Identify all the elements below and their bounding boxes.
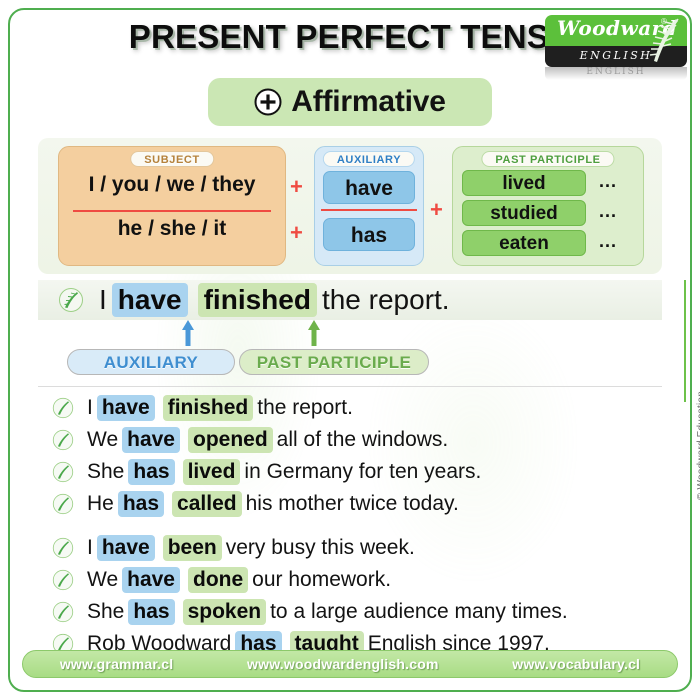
copyright-notice: © Woodward Education (696, 391, 700, 500)
woodward-english-logo[interactable]: Woodward ® ENGLISH ENGLISH (545, 15, 687, 67)
list-item: I have finished the report. (38, 392, 662, 424)
fern-check-icon (52, 429, 74, 451)
list-item: We have done our homework. (38, 564, 662, 596)
list-item: She has lived in Germany for ten years. (38, 456, 662, 488)
list-item: She has spoken to a large audience many … (38, 596, 662, 628)
list-item: We have opened all of the windows. (38, 424, 662, 456)
participle-example-lived: lived (462, 170, 586, 196)
arrow-up-participle-icon (307, 320, 321, 346)
featured-remainder: the report. (317, 284, 455, 316)
sentence-subject: I (83, 396, 97, 420)
legend-past-participle: PAST PARTICIPLE (239, 349, 429, 375)
sentence-subject: We (83, 428, 122, 452)
auxiliary-have: have (323, 171, 415, 204)
fern-check-icon (52, 569, 74, 591)
sentence-subject: We (83, 568, 122, 592)
sentence-auxiliary: have (97, 535, 155, 561)
featured-example-banner: I have finished the report. (38, 280, 662, 320)
legend-auxiliary: AUXILIARY (67, 349, 235, 375)
sentence-auxiliary: have (122, 567, 180, 593)
ellipsis-3: ... (599, 231, 635, 252)
sentence-remainder: in Germany for ten years. (240, 460, 485, 484)
copyright-rule (684, 280, 686, 402)
auxiliary-box: AUXILIARY have has (314, 146, 424, 266)
footer-link-woodwardenglish[interactable]: www.woodwardenglish.com (247, 656, 439, 672)
fern-check-icon (52, 493, 74, 515)
plus-circle-icon (254, 88, 282, 116)
plus-sign-aux-participle: + (430, 197, 443, 223)
footer-link-vocabulary[interactable]: www.vocabulary.cl (512, 656, 640, 672)
sentence-subject: She (83, 600, 128, 624)
header: PRESENT PERFECT TENSE Woodward ® ENGLISH (0, 18, 700, 70)
sentence-participle: been (163, 535, 222, 561)
sentence-remainder: all of the windows. (273, 428, 453, 452)
sentence-subject: She (83, 460, 128, 484)
subject-box: SUBJECT I / you / we / they he / she / i… (58, 146, 286, 266)
fern-check-icon (58, 287, 84, 313)
fern-check-icon (52, 601, 74, 623)
footer-link-grammar[interactable]: www.grammar.cl (60, 656, 174, 672)
plus-sign-subject-aux-1: + (290, 174, 303, 200)
auxiliary-has: has (323, 218, 415, 251)
sentence-remainder: very busy this week. (222, 536, 419, 560)
list-item: He has called his mother twice today. (38, 488, 662, 520)
section-divider (38, 386, 662, 387)
affirmative-badge: Affirmative (208, 78, 492, 126)
subject-divider (73, 210, 271, 212)
sentence-auxiliary: has (118, 491, 164, 517)
sentence-auxiliary: has (128, 459, 174, 485)
sentence-subject: He (83, 492, 118, 516)
sentence-participle: called (172, 491, 242, 517)
sentence-auxiliary: have (122, 427, 180, 453)
participle-example-studied: studied (462, 200, 586, 226)
participle-example-eaten: eaten (462, 230, 586, 256)
sentence-participle: done (188, 567, 248, 593)
infographic-poster: PRESENT PERFECT TENSE Woodward ® ENGLISH (0, 0, 700, 700)
fern-check-icon (52, 461, 74, 483)
past-participle-label: PAST PARTICIPLE (481, 151, 614, 167)
sentence-participle: opened (188, 427, 273, 453)
list-group-spacer (38, 520, 662, 532)
sentence-subject: I (83, 536, 97, 560)
sentence-auxiliary: have (97, 395, 155, 421)
sentence-participle: lived (183, 459, 241, 485)
subject-singular-pronouns: he / she / it (59, 217, 285, 241)
footer-bar: www.grammar.cl www.woodwardenglish.com w… (22, 650, 678, 678)
sentence-auxiliary: has (128, 599, 174, 625)
affirmative-label: Affirmative (291, 85, 446, 119)
sentence-participle: spoken (183, 599, 267, 625)
featured-participle: finished (198, 283, 317, 317)
sentence-remainder: our homework. (248, 568, 395, 592)
structure-panel: SUBJECT I / you / we / they he / she / i… (38, 138, 662, 274)
auxiliary-label: AUXILIARY (323, 151, 415, 167)
fern-leaf-icon (645, 17, 683, 65)
sentence-remainder: the report. (253, 396, 357, 420)
sentence-remainder: to a large audience many times. (266, 600, 572, 624)
fern-check-icon (52, 397, 74, 419)
arrow-up-auxiliary-icon (181, 320, 195, 346)
fern-check-icon (52, 537, 74, 559)
featured-auxiliary: have (112, 283, 188, 317)
subject-plural-pronouns: I / you / we / they (59, 173, 285, 197)
sentence-remainder: his mother twice today. (242, 492, 463, 516)
ellipsis-2: ... (599, 201, 635, 222)
past-participle-box: PAST PARTICIPLE lived studied eaten ... … (452, 146, 644, 266)
plus-sign-subject-aux-2: + (290, 220, 303, 246)
logo-reflection: ENGLISH (545, 67, 687, 80)
auxiliary-divider (321, 209, 417, 211)
subject-label: SUBJECT (130, 151, 214, 167)
featured-example-text: I have finished the report. (94, 283, 455, 317)
list-item: I have been very busy this week. (38, 532, 662, 564)
featured-subject: I (94, 284, 112, 316)
sentence-participle: finished (163, 395, 254, 421)
ellipsis-1: ... (599, 171, 635, 192)
example-sentences-list: I have finished the report. We have open… (38, 392, 662, 660)
